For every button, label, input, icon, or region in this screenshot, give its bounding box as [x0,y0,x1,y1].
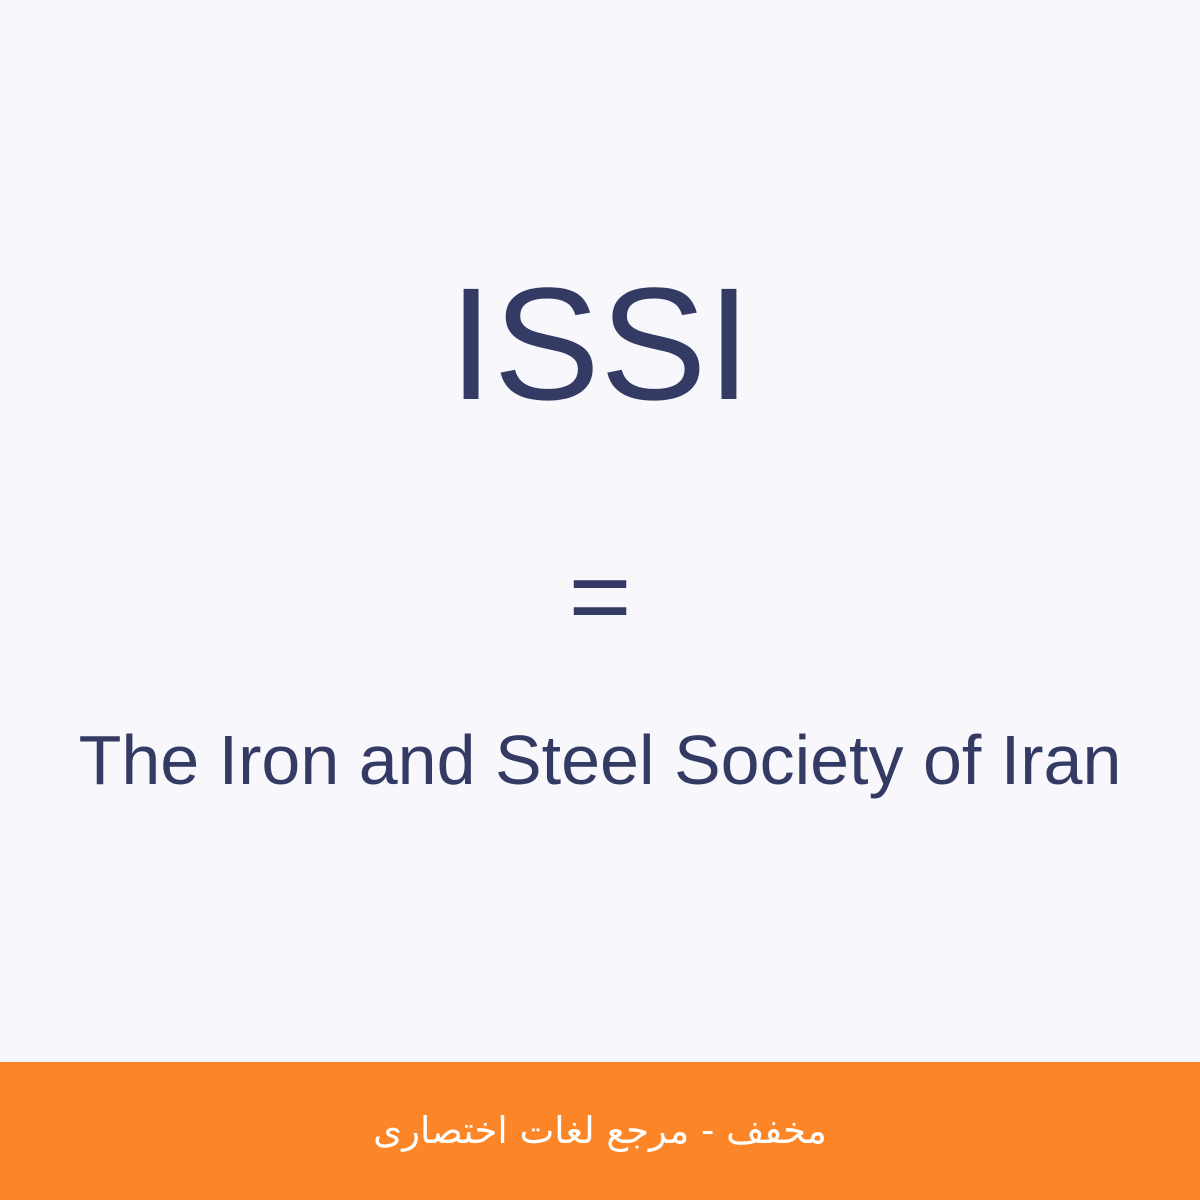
abbreviation-definition-page: ISSI = The Iron and Steel Society of Ira… [0,0,1200,1200]
abbreviation-term: ISSI [449,264,751,424]
footer-brand-text: مخفف - مرجع لغات اختصاری [373,1109,827,1153]
equals-sign: = [568,542,631,650]
abbreviation-expansion: The Iron and Steel Society of Iran [79,724,1122,798]
site-footer-bar: مخفف - مرجع لغات اختصاری [0,1062,1200,1200]
definition-card: ISSI = The Iron and Steel Society of Ira… [0,0,1200,1062]
